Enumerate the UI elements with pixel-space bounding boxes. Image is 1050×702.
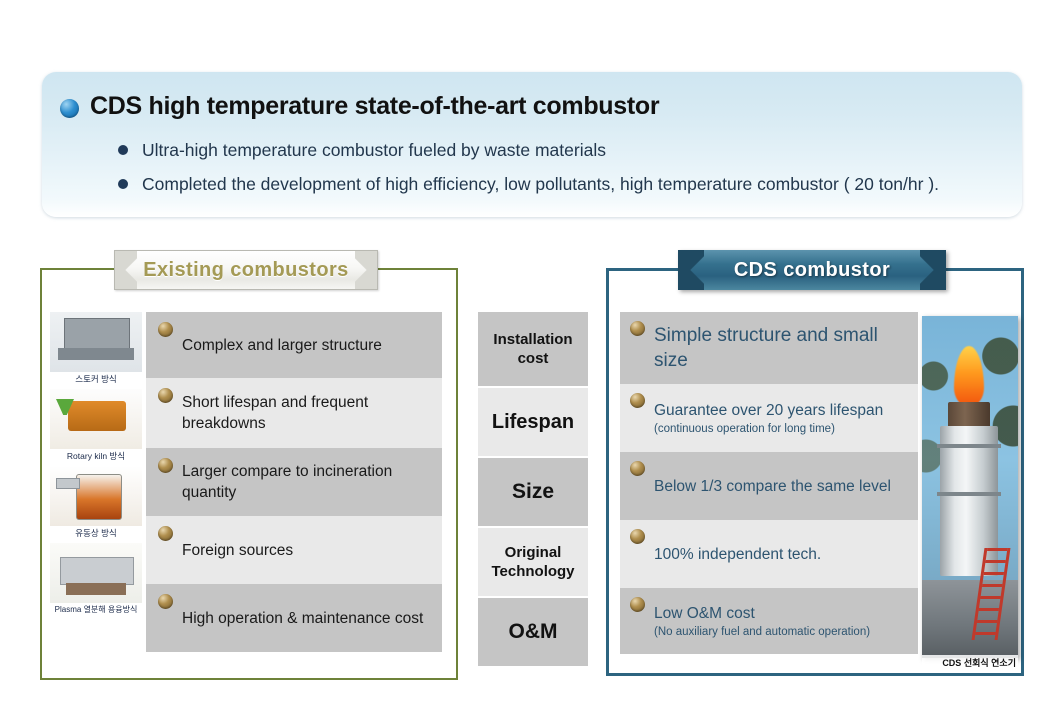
bullet-dot-icon <box>118 179 128 189</box>
criteria-cell-lifespan: Lifespan <box>478 388 588 456</box>
thumbnail-caption: 스토커 방식 <box>48 373 144 385</box>
row-text: Short lifespan and frequent breakdowns <box>182 392 432 434</box>
comparison-criteria-column: Installation cost Lifespan Size Original… <box>478 312 588 668</box>
page-title: CDS high temperature state-of-the-art co… <box>90 92 659 121</box>
table-row: 100% independent tech. <box>620 520 918 588</box>
photo-caption: CDS 선회식 연소기 <box>922 655 1018 670</box>
header-card: CDS high temperature state-of-the-art co… <box>42 72 1022 217</box>
table-row: Simple structure and small size <box>620 312 918 384</box>
row-text: Complex and larger structure <box>182 335 432 356</box>
table-row: Below 1/3 compare the same level <box>620 452 918 520</box>
existing-combustors-label: Existing combustors <box>115 251 377 289</box>
stoker-incinerator-thumbnail-icon <box>50 312 142 372</box>
bronze-bullet-icon <box>158 594 173 609</box>
header-bullet-text-2: Completed the development of high effici… <box>142 174 939 194</box>
bronze-bullet-icon <box>630 597 645 612</box>
bronze-bullet-icon <box>630 393 645 408</box>
bronze-bullet-icon <box>630 321 645 336</box>
fluidized-bed-thumbnail-icon <box>50 466 142 526</box>
row-text: High operation & maintenance cost <box>182 608 432 629</box>
table-row: Larger compare to incineration quantity <box>146 448 442 516</box>
bronze-bullet-icon <box>158 458 173 473</box>
table-row: Foreign sources <box>146 516 442 584</box>
bronze-bullet-icon <box>630 529 645 544</box>
row-text: Simple structure and small size <box>654 323 910 373</box>
rotary-kiln-thumbnail-icon <box>50 389 142 449</box>
table-row: Guarantee over 20 years lifespan (contin… <box>620 384 918 452</box>
header-bullet-item-1: Ultra-high temperature combustor fueled … <box>142 138 1002 162</box>
table-row: High operation & maintenance cost <box>146 584 442 652</box>
row-text-wrap: Guarantee over 20 years lifespan (contin… <box>654 400 910 437</box>
bronze-bullet-icon <box>158 388 173 403</box>
existing-combustors-ribbon: Existing combustors <box>114 250 378 290</box>
thumbnail-caption: 유동상 방식 <box>48 527 144 539</box>
row-text: 100% independent tech. <box>654 544 910 565</box>
thumbnail-caption: Rotary kiln 방식 <box>48 450 144 462</box>
list-item: Rotary kiln 방식 <box>48 389 144 462</box>
thumbnail-caption: Plasma 열분해 용융방식 <box>48 604 144 615</box>
header-bullet-icon <box>60 99 79 118</box>
cds-combustor-photo <box>922 316 1018 658</box>
cds-combustor-label: CDS combustor <box>678 250 946 290</box>
plasma-melting-thumbnail-icon <box>50 543 142 603</box>
criteria-cell-installation-cost: Installation cost <box>478 312 588 386</box>
header-bullet-item-2: Completed the development of high effici… <box>142 172 1022 196</box>
existing-combustor-drawback-list: Complex and larger structure Short lifes… <box>146 312 442 652</box>
row-text: Foreign sources <box>182 540 432 561</box>
table-row: Low O&M cost (No auxiliary fuel and auto… <box>620 588 918 654</box>
criteria-cell-original-technology: Original Technology <box>478 528 588 596</box>
cds-combustor-ribbon: CDS combustor <box>678 250 946 290</box>
header-bullet-text-1: Ultra-high temperature combustor fueled … <box>142 140 606 160</box>
row-note: (No auxiliary fuel and automatic operati… <box>654 625 910 640</box>
existing-combustor-thumbnail-list: 스토커 방식 Rotary kiln 방식 유동상 방식 Plasma 열분해 … <box>48 312 144 619</box>
table-row: Short lifespan and frequent breakdowns <box>146 378 442 448</box>
bronze-bullet-icon <box>158 322 173 337</box>
criteria-cell-size: Size <box>478 458 588 526</box>
list-item: Plasma 열분해 용융방식 <box>48 543 144 615</box>
table-row: Complex and larger structure <box>146 312 442 378</box>
row-note: (continuous operation for long time) <box>654 422 910 437</box>
row-text: Guarantee over 20 years lifespan <box>654 402 883 419</box>
bullet-dot-icon <box>118 145 128 155</box>
bronze-bullet-icon <box>630 461 645 476</box>
row-text-wrap: Low O&M cost (No auxiliary fuel and auto… <box>654 603 910 640</box>
cds-combustor-benefit-list: Simple structure and small size Guarante… <box>620 312 918 654</box>
criteria-cell-o-and-m: O&M <box>478 598 588 666</box>
row-text: Low O&M cost <box>654 605 755 622</box>
list-item: 스토커 방식 <box>48 312 144 385</box>
bronze-bullet-icon <box>158 526 173 541</box>
row-text: Below 1/3 compare the same level <box>654 476 910 497</box>
list-item: 유동상 방식 <box>48 466 144 539</box>
row-text: Larger compare to incineration quantity <box>182 461 432 503</box>
